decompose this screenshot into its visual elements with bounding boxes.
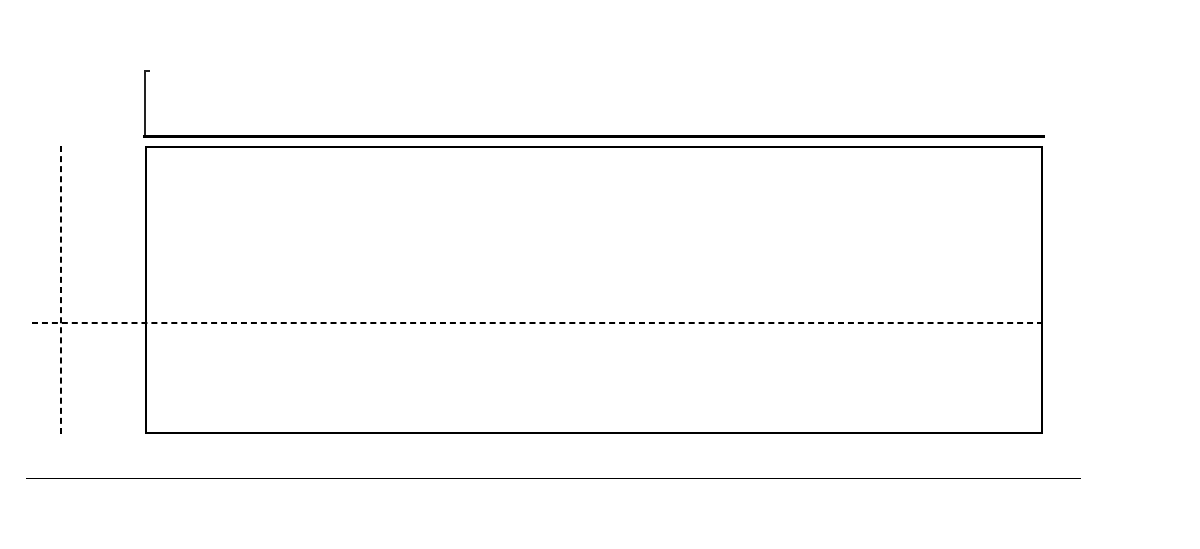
- bar-chart-y-axis-title: [50, 70, 114, 134]
- group-separator-vertical: [60, 146, 62, 434]
- footer-divider: [26, 478, 1081, 479]
- heatmap-plot-area: [145, 146, 1043, 434]
- bar-chart-y-axis-line: [144, 70, 146, 136]
- legend-swatch-one-of-each: [1056, 190, 1094, 215]
- bar-chart-plot-area: [147, 72, 1041, 136]
- legend: [1056, 190, 1200, 440]
- heatmap-x-axis-labels: [145, 436, 1043, 482]
- heatmap-row-labels: [72, 146, 144, 434]
- bar-chart-x-axis-line: [143, 135, 1045, 138]
- arabica-robusta-divider: [32, 322, 1043, 324]
- heatmap-grid: [147, 148, 1041, 432]
